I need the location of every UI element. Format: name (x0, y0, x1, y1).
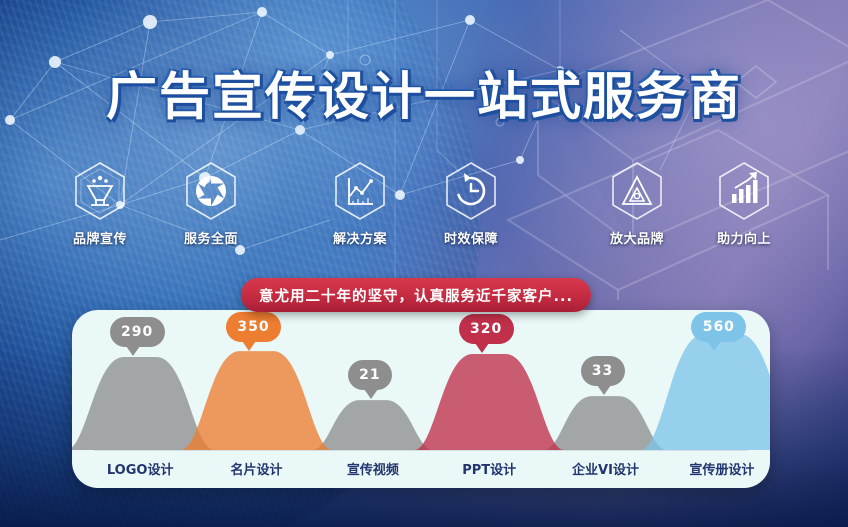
feature-item-full-service[interactable]: 服务全面 (163, 160, 259, 247)
feature-label: 服务全面 (163, 228, 259, 247)
feature-label: 品牌宣传 (52, 228, 148, 247)
feature-item-amplify-brand[interactable]: 放大品牌 (589, 160, 685, 247)
feature-item-boost-growth[interactable]: 助力向上 (696, 160, 792, 247)
mountain-area-chart (72, 310, 770, 450)
triangle-pyramid-icon (608, 160, 666, 222)
feature-item-brand-promotion[interactable]: 品牌宣传 (52, 160, 148, 247)
stats-card: 2903502132033560 LOGO设计名片设计宣传视频PPT设计企业VI… (72, 310, 770, 488)
feature-label: 放大品牌 (589, 228, 685, 247)
trophy-icon (71, 160, 129, 222)
chart-area-dome (640, 334, 770, 450)
chart-baseline (94, 450, 748, 451)
chart-area-dome (181, 351, 333, 450)
promo-banner: 广告宣传设计一站式服务商 品牌宣传 (0, 0, 848, 527)
chart-area-dome (313, 400, 434, 450)
aperture-icon (182, 160, 240, 222)
feature-label: 解决方案 (312, 228, 408, 247)
chart-area-dome (72, 357, 214, 450)
page-title: 广告宣传设计一站式服务商 (0, 55, 848, 129)
clock-rewind-icon (442, 160, 500, 222)
feature-label: 助力向上 (696, 228, 792, 247)
bar-chart-up-icon (715, 160, 773, 222)
tagline-text: 意尤用二十年的坚守，认真服务近千家客户... (259, 285, 573, 306)
chart-category-label: 宣传册设计 (662, 459, 770, 478)
chart-category-label: 宣传视频 (313, 459, 433, 478)
chart-category-label: LOGO设计 (80, 459, 200, 478)
chart-area-dome (544, 396, 667, 450)
billboard-structure-decoration (468, 0, 848, 300)
chart-category-label: 名片设计 (197, 459, 317, 478)
tagline-pill: 意尤用二十年的坚守，认真服务近千家客户... (241, 278, 591, 312)
analytics-chart-icon (331, 160, 389, 222)
feature-item-solutions[interactable]: 解决方案 (312, 160, 408, 247)
feature-item-timeliness[interactable]: 时效保障 (423, 160, 519, 247)
feature-icon-row: 品牌宣传 服务全面 (0, 160, 848, 250)
chart-category-label: PPT设计 (429, 459, 549, 478)
chart-area-dome (414, 354, 564, 450)
chart-category-label: 企业VI设计 (546, 459, 666, 478)
feature-label: 时效保障 (423, 228, 519, 247)
chart-x-axis-labels: LOGO设计名片设计宣传视频PPT设计企业VI设计宣传册设计 (72, 453, 770, 487)
